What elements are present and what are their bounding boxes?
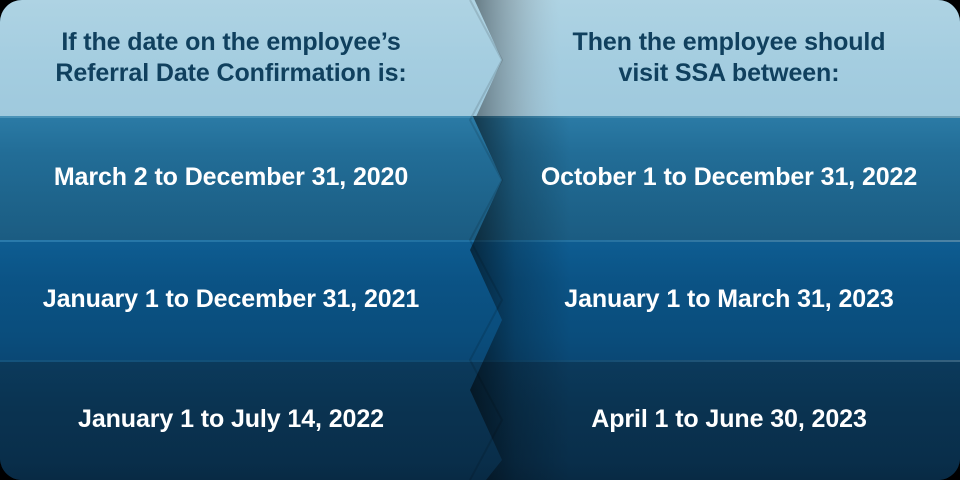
row-2-action-text: January 1 to March 31, 2023 [564,284,893,315]
row-1-action-text: October 1 to December 31, 2022 [541,162,917,193]
row-3-condition-text: January 1 to July 14, 2022 [78,404,384,435]
row-2-top-highlight [0,240,960,242]
row-1-cell-action: October 1 to December 31, 2022 [480,162,960,193]
row-2-cell-action: January 1 to March 31, 2023 [480,284,960,315]
row-2-cell-condition: January 1 to December 31, 2021 [0,284,480,315]
row-2-condition-text: January 1 to December 31, 2021 [43,284,419,315]
referral-date-table-graphic: If the date on the employee’s Referral D… [0,0,960,480]
row-3-cell-condition: January 1 to July 14, 2022 [0,404,480,435]
header-cell-condition: If the date on the employee’s Referral D… [0,27,480,90]
table-row: January 1 to December 31, 2021 January 1… [0,240,960,360]
row-3-action-text: April 1 to June 30, 2023 [591,404,867,435]
row-1-cell-condition: March 2 to December 31, 2020 [0,162,480,193]
header-cell-action: Then the employee should visit SSA betwe… [480,27,960,90]
row-1-condition-text: March 2 to December 31, 2020 [54,162,408,193]
row-1-top-highlight [0,116,960,118]
table-row: January 1 to July 14, 2022 April 1 to Ju… [0,360,960,480]
header-cell-condition-text: If the date on the employee’s Referral D… [55,27,406,90]
row-3-cell-action: April 1 to June 30, 2023 [480,404,960,435]
table-row: March 2 to December 31, 2020 October 1 t… [0,116,960,240]
table-container: If the date on the employee’s Referral D… [0,0,960,480]
header-cell-action-text: Then the employee should visit SSA betwe… [573,27,886,90]
table-header-row: If the date on the employee’s Referral D… [0,0,960,116]
row-3-top-highlight [0,360,960,362]
